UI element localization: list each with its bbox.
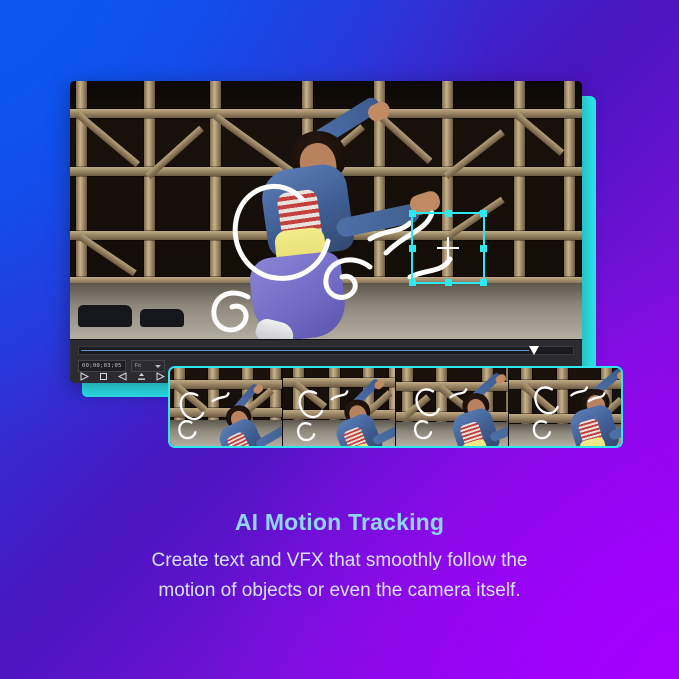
play-button[interactable] [78,372,91,381]
play-icon [80,372,89,381]
caption-subtitle-line-1: Create text and VFX that smoothly follow… [152,550,528,571]
stop-icon [99,372,108,381]
caption-subtitle-line-2: motion of objects or even the camera its… [158,580,520,601]
resize-handle-bottom-right[interactable] [480,279,487,286]
filmstrip-frame[interactable] [170,368,283,446]
resize-handle-top-center[interactable] [445,210,452,217]
filmstrip-frame[interactable] [283,368,396,446]
step-back-button[interactable] [116,372,129,381]
stop-button[interactable] [97,372,110,381]
resize-handle-bottom-left[interactable] [409,279,416,286]
tracking-selection-box[interactable] [411,212,485,284]
step-back-icon [118,372,127,381]
dancer-subject [218,107,438,339]
video-stage[interactable] [70,81,582,339]
caption-block: AI Motion Tracking Create text and VFX t… [0,508,679,606]
zoom-level-value: Fit [135,362,141,370]
chevron-down-icon [155,365,161,368]
promo-card: 00;00;03;05 Fit [0,0,679,679]
caption-subtitle: Create text and VFX that smoothly follow… [80,546,600,606]
filmstrip-frame[interactable] [509,368,621,446]
step-forward-button[interactable] [154,372,167,381]
resize-handle-top-right[interactable] [480,210,487,217]
export-frame-button[interactable] [135,372,148,381]
video-preview-window: 00;00;03;05 Fit [70,81,582,383]
resize-handle-bottom-center[interactable] [445,279,452,286]
scrubber-progress [81,350,529,351]
resize-handle-middle-left[interactable] [409,245,416,252]
resize-handle-middle-right[interactable] [480,245,487,252]
scrubber-track[interactable] [78,346,574,355]
zoom-level-select[interactable]: Fit [131,360,165,372]
tracked-frames-filmstrip[interactable] [168,366,623,448]
timecode-field[interactable]: 00;00;03;05 [78,360,126,372]
export-frame-icon [137,372,146,381]
tracker-crosshair-icon [437,237,459,259]
resize-handle-top-left[interactable] [409,210,416,217]
playhead-marker[interactable] [529,346,539,355]
filmstrip-frame[interactable] [396,368,509,446]
timecode-row: 00;00;03;05 Fit [78,360,165,372]
caption-title: AI Motion Tracking [0,508,679,536]
step-forward-icon [156,372,165,381]
